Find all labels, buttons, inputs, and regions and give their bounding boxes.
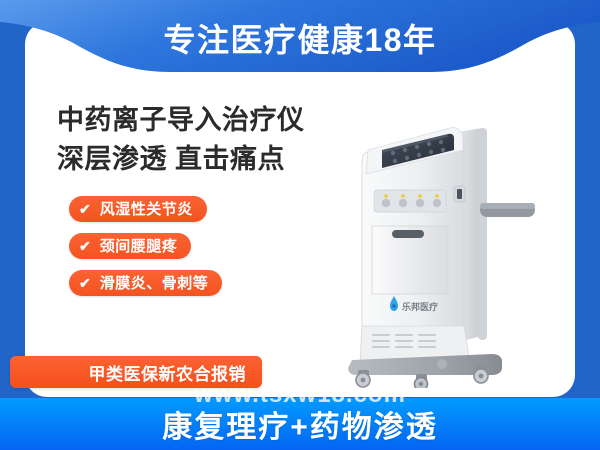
svg-text:乐邦医疗: 乐邦医疗 [402,301,438,312]
insurance-label: 甲类医保新农合报销 [89,360,247,385]
device-port-slot [457,189,462,199]
feature-pill-2: ✔ 颈间腰腿疼 [69,233,191,259]
feature-pill-list: ✔ 风湿性关节炎 ✔ 颈间腰腿疼 ✔ 滑膜炎、骨刺等 [69,196,222,307]
footer-bar: 康复理疗+药物渗透 [0,398,600,450]
device-tray-handle [392,230,424,238]
check-icon: ✔ [79,276,91,290]
headline-line-2: 深层渗透 直击痛点 [57,140,357,179]
device-handle-highlight [480,203,535,209]
feature-pill-3: ✔ 滑膜炎、骨刺等 [69,270,222,296]
headline-block: 中药离子导入治疗仪 深层渗透 直击痛点 [57,101,357,179]
device-illustration: 乐邦医疗 [330,98,545,388]
insurance-badge: 甲类医保新农合报销 [10,356,262,388]
footer-slogan: 康复理疗+药物渗透 [162,402,438,446]
feature-pill-1: ✔ 风湿性关节炎 [69,196,207,222]
feature-pill-2-label: 颈间腰腿疼 [100,239,178,254]
advertisement-banner: 专注医疗健康18年 中药离子导入治疗仪 深层渗透 直击痛点 ✔ 风湿性关节炎 ✔… [0,0,600,450]
check-icon: ✔ [79,239,91,253]
medical-device-image: 乐邦医疗 [330,98,545,388]
feature-pill-3-label: 滑膜炎、骨刺等 [100,276,209,291]
device-rear-edge [478,128,487,340]
headline-line-1: 中药离子导入治疗仪 [57,101,357,140]
check-icon: ✔ [79,202,91,216]
feature-pill-1-label: 风湿性关节炎 [100,202,193,217]
